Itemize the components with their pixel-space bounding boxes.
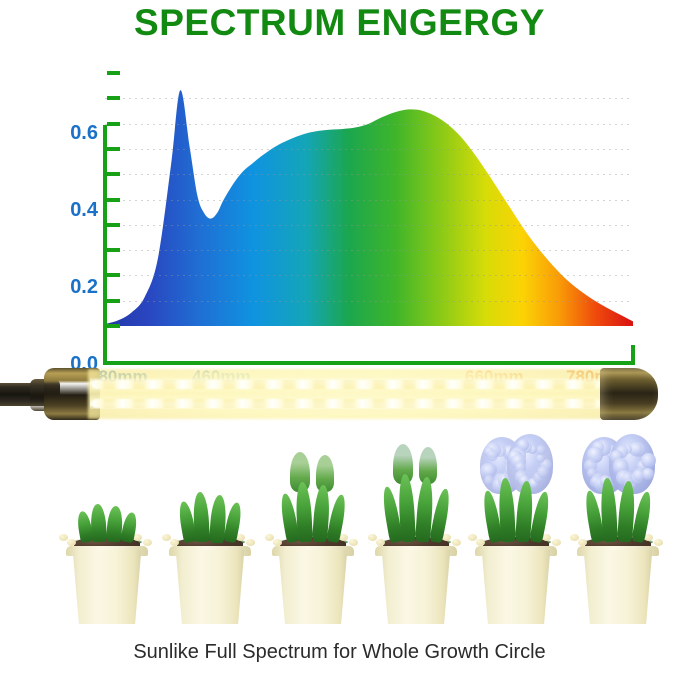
pebble	[570, 534, 579, 541]
plant-leaf	[209, 494, 227, 542]
x-axis-end-tick	[631, 345, 635, 365]
led-row-bottom	[92, 399, 600, 408]
y-axis-tick	[107, 223, 120, 227]
bloom-floret	[537, 466, 548, 477]
led-grow-light-bar	[0, 355, 679, 435]
y-tick-label-3: 0.6	[44, 122, 98, 145]
plant-leaf	[192, 492, 210, 543]
bloom-floret	[642, 468, 654, 480]
bloom-floret	[487, 450, 498, 461]
plant-stage-4	[364, 430, 468, 630]
pebble	[143, 539, 152, 546]
pebble	[246, 539, 255, 546]
caption-text: Sunlike Full Spectrum for Whole Growth C…	[0, 641, 679, 664]
pebble	[476, 539, 485, 546]
pebble	[368, 534, 377, 541]
pebble	[162, 534, 171, 541]
plant-leaf	[294, 482, 312, 543]
pebble	[349, 539, 358, 546]
y-axis-tick	[107, 324, 120, 328]
plant-stage-3	[261, 430, 365, 630]
y-axis-tick	[107, 299, 120, 303]
y-axis-tick	[107, 273, 120, 277]
pebble	[273, 539, 282, 546]
flower-pot	[171, 550, 249, 624]
y-axis-tick	[107, 96, 120, 100]
y-tick-label-2: 0.4	[44, 199, 98, 222]
plant-leaf	[397, 474, 416, 543]
plant-growth-stages	[0, 430, 679, 630]
y-axis-tick	[107, 198, 120, 202]
page-title: SPECTRUM ENGERGY	[0, 2, 679, 44]
pebble	[654, 539, 663, 546]
pebble	[452, 539, 461, 546]
plant-stage-2	[158, 430, 262, 630]
bloom-floret	[536, 445, 546, 455]
y-axis-tick	[107, 248, 120, 252]
plant-leaf	[90, 504, 107, 543]
plant-leaf	[106, 505, 123, 542]
flower-pot	[274, 550, 352, 624]
y-axis-tick	[107, 172, 120, 176]
pebble	[376, 539, 385, 546]
flower-pot	[579, 550, 657, 624]
y-axis-tick	[107, 71, 120, 75]
flower-pot	[477, 550, 555, 624]
pebble	[59, 534, 68, 541]
flower-pot	[68, 550, 146, 624]
pebble	[265, 534, 274, 541]
y-tick-label-1: 0.2	[44, 276, 98, 299]
y-axis-labels: 0.0 0.2 0.4 0.6	[36, 55, 98, 375]
plant-stage-6	[566, 430, 670, 630]
right-endcap	[600, 368, 658, 420]
spectrum-area-curve	[105, 73, 633, 326]
y-axis-tick	[107, 122, 120, 126]
chart-plot-area	[105, 73, 633, 326]
plant-stage-5	[464, 430, 568, 630]
plant-stage-1	[55, 430, 159, 630]
led-row-top	[92, 380, 600, 389]
bloom-floret	[641, 453, 656, 468]
spectrum-chart: 0.0 0.2 0.4 0.6 380mm 460mm 660mm 780mm	[0, 55, 679, 340]
pebble	[552, 539, 561, 546]
y-axis-line	[103, 125, 107, 365]
flower-pot	[377, 550, 455, 624]
pebble	[170, 539, 179, 546]
x-axis-line	[103, 361, 635, 365]
pebble	[578, 539, 587, 546]
chart-plot-inner	[105, 73, 633, 326]
y-axis-tick	[107, 147, 120, 151]
pebble	[67, 539, 76, 546]
pebble	[468, 534, 477, 541]
